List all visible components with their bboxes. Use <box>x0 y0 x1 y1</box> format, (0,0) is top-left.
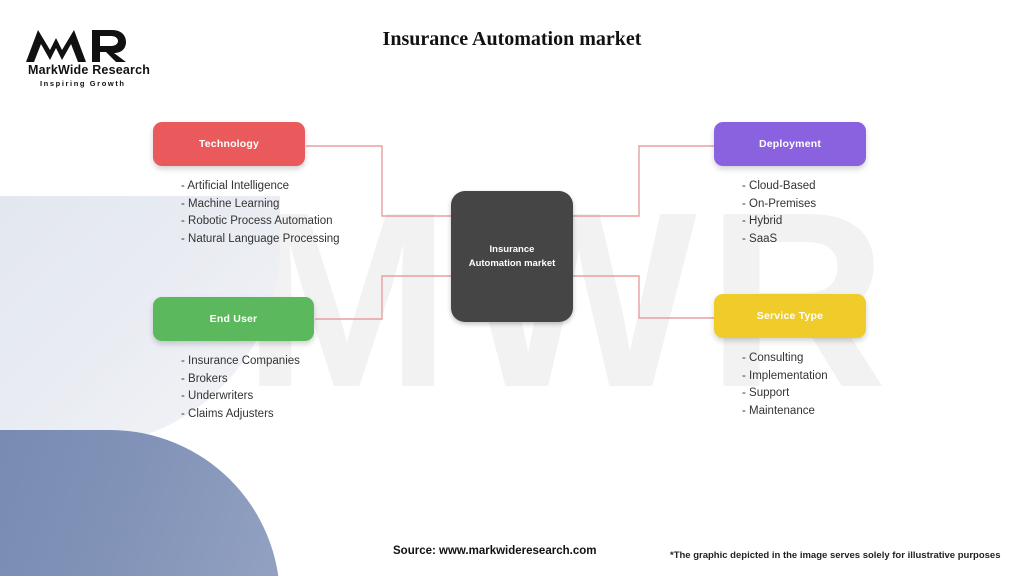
category-label-end-user[interactable]: End User <box>153 297 314 341</box>
list-item: - Hybrid <box>742 213 866 231</box>
list-item: - Implementation <box>742 368 866 386</box>
category-end-user: End User - Insurance Companies - Brokers… <box>153 297 314 423</box>
category-items-end-user: - Insurance Companies - Brokers - Underw… <box>181 353 314 423</box>
list-item: - Cloud-Based <box>742 178 866 196</box>
list-item: - Support <box>742 385 866 403</box>
list-item: - Insurance Companies <box>181 353 314 371</box>
diagram-canvas: MWR MarkWide Research Inspiring Growth I… <box>0 0 1024 576</box>
list-item: - Underwriters <box>181 388 314 406</box>
category-label-service-type[interactable]: Service Type <box>714 294 866 338</box>
category-label-technology[interactable]: Technology <box>153 122 305 166</box>
list-item: - Natural Language Processing <box>181 231 305 249</box>
list-item: - Machine Learning <box>181 196 305 214</box>
list-item: - On-Premises <box>742 196 866 214</box>
list-item: - Maintenance <box>742 403 866 421</box>
center-node: Insurance Automation market <box>451 191 573 322</box>
disclaimer-text: *The graphic depicted in the image serve… <box>670 550 1001 561</box>
list-item: - Brokers <box>181 371 314 389</box>
category-label-deployment[interactable]: Deployment <box>714 122 866 166</box>
list-item: - Artificial Intelligence <box>181 178 305 196</box>
category-items-technology: - Artificial Intelligence - Machine Lear… <box>181 178 305 248</box>
category-items-deployment: - Cloud-Based - On-Premises - Hybrid - S… <box>742 178 866 248</box>
category-service-type: Service Type - Consulting - Implementati… <box>714 294 866 420</box>
category-technology: Technology - Artificial Intelligence - M… <box>153 122 305 248</box>
category-deployment: Deployment - Cloud-Based - On-Premises -… <box>714 122 866 248</box>
list-item: - Robotic Process Automation <box>181 213 305 231</box>
category-items-service-type: - Consulting - Implementation - Support … <box>742 350 866 420</box>
list-item: - SaaS <box>742 231 866 249</box>
source-text: Source: www.markwideresearch.com <box>393 545 596 557</box>
center-node-line1: Insurance <box>469 243 556 257</box>
list-item: - Consulting <box>742 350 866 368</box>
list-item: - Claims Adjusters <box>181 406 314 424</box>
center-node-line2: Automation market <box>469 257 556 271</box>
